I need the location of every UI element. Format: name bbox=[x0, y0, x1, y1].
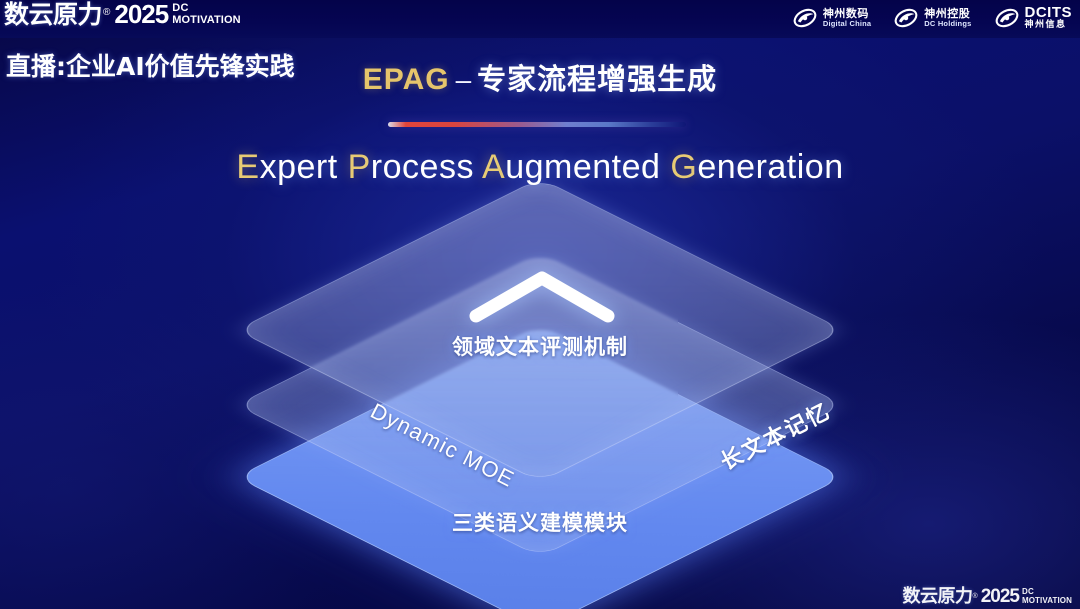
partner-logo-text: 神州控股 DC Holdings bbox=[924, 8, 971, 27]
subtitle-cap-g: G bbox=[670, 148, 697, 186]
watermark-dc-motivation: DC MOTIVATION bbox=[1022, 588, 1072, 605]
swoosh-logo-icon bbox=[893, 5, 919, 31]
brand-watermark-footer: 数云原力 ® 2025 DC MOTIVATION bbox=[903, 587, 1072, 606]
gradient-divider bbox=[388, 122, 686, 127]
partner-logo-dc-holdings: 神州控股 DC Holdings bbox=[893, 5, 971, 31]
brand-dc-motivation: DC MOTIVATION bbox=[172, 3, 240, 26]
watermark-tagline: MOTIVATION bbox=[1022, 597, 1072, 605]
subtitle-rest-process: rocess bbox=[371, 148, 474, 186]
partner-logo-digital-china: 神州数码 Digital China bbox=[792, 5, 871, 31]
brand-logo-header: 数云原力 ® 2025 DC MOTIVATION bbox=[4, 1, 241, 27]
stack-label-top: 领域文本评测机制 bbox=[0, 331, 1080, 361]
partner-logo-group: 神州数码 Digital China 神州控股 DC Holdings bbox=[792, 5, 1072, 31]
swoosh-logo-icon bbox=[792, 5, 818, 31]
swoosh-logo-icon bbox=[994, 5, 1020, 31]
title-subtitle-cn: 专家流程增强生成 bbox=[477, 62, 717, 96]
subtitle-cap-a: A bbox=[482, 148, 505, 186]
watermark-registered-mark: ® bbox=[973, 593, 978, 600]
subtitle-cap-e: E bbox=[236, 148, 259, 186]
chevron-up-icon bbox=[468, 268, 616, 324]
subtitle-cap-p: P bbox=[348, 148, 371, 186]
live-broadcast-title: 直播:企业AI价值先锋实践 bbox=[6, 47, 295, 83]
brand-tagline: MOTIVATION bbox=[172, 15, 240, 26]
partner-name-cn: 神州信息 bbox=[1025, 21, 1073, 30]
stack-label-bottom: 三类语义建模模块 bbox=[0, 507, 1080, 537]
watermark-name-cn: 数云原力 bbox=[903, 588, 973, 606]
partner-name-en: DCITS bbox=[1025, 5, 1073, 20]
partner-name-en: DC Holdings bbox=[924, 20, 971, 28]
brand-name-cn: 数云原力 bbox=[4, 2, 102, 27]
watermark-year: 2025 bbox=[981, 587, 1019, 606]
partner-logo-text: DCITS 神州信息 bbox=[1025, 5, 1073, 30]
subtitle-rest-expert: xpert bbox=[260, 148, 338, 186]
subtitle-rest-generation: eneration bbox=[697, 148, 843, 186]
english-subtitle: Expert Process Augmented Generation bbox=[0, 148, 1080, 187]
partner-logo-dcits: DCITS 神州信息 bbox=[994, 5, 1073, 31]
brand-year: 2025 bbox=[114, 1, 168, 27]
brand-registered-mark: ® bbox=[103, 7, 110, 18]
watermark-abbr: DC bbox=[1022, 588, 1072, 596]
brand-abbr: DC bbox=[172, 3, 240, 14]
title-dash: – bbox=[456, 64, 472, 95]
title-acronym: EPAG bbox=[363, 63, 450, 96]
partner-logo-text: 神州数码 Digital China bbox=[823, 8, 871, 27]
subtitle-rest-augmented: ugmented bbox=[505, 148, 660, 186]
partner-name-en: Digital China bbox=[823, 20, 871, 28]
slide-canvas: 数云原力 ® 2025 DC MOTIVATION 直播:企业AI价值先锋实践 … bbox=[0, 0, 1080, 609]
